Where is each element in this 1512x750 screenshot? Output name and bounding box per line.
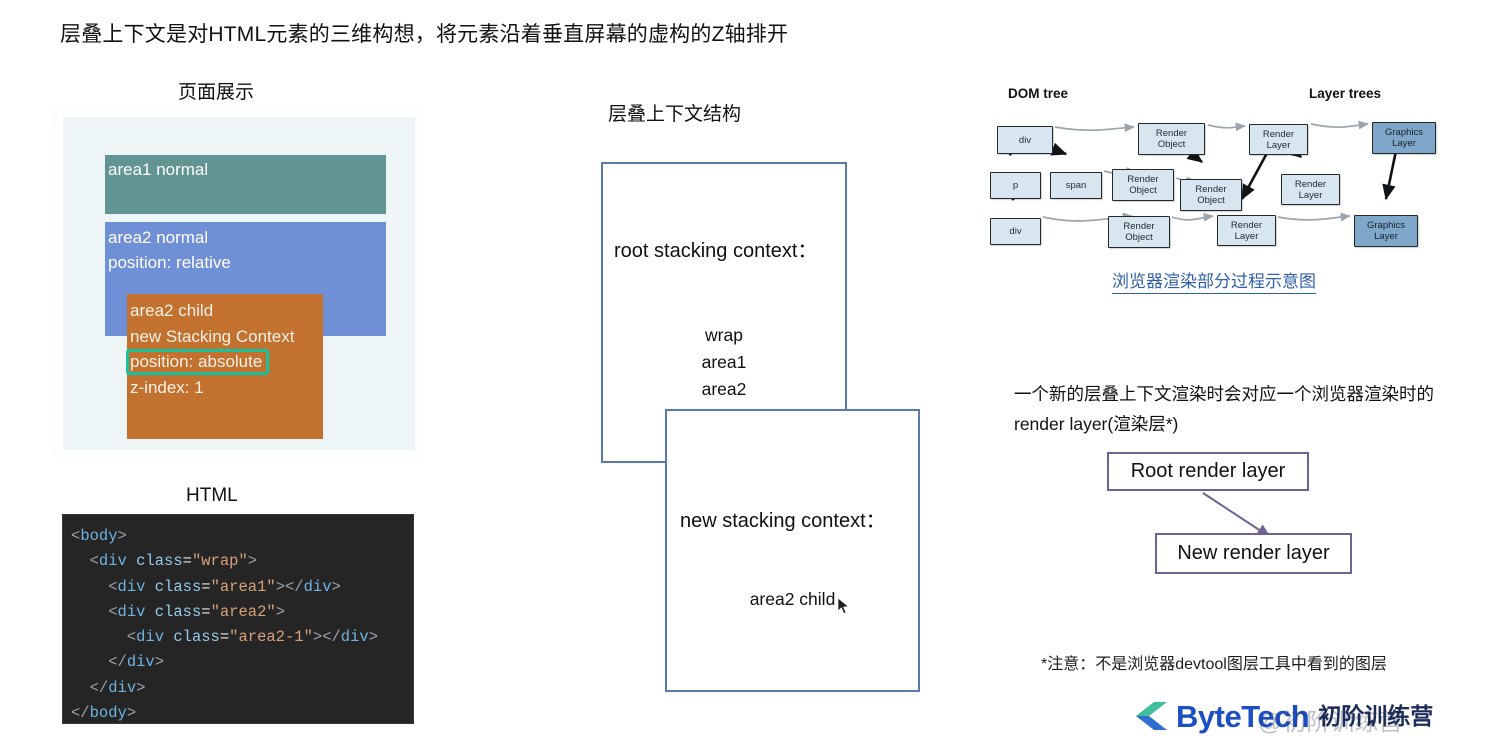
diagram-node-render-object-7: RenderObject bbox=[1108, 216, 1170, 248]
render-process-diagram-link[interactable]: 浏览器渲染部分过程示意图 bbox=[1112, 267, 1316, 294]
diagram-node-graphics-layer-12: GraphicsLayer bbox=[1354, 215, 1418, 247]
diagram-node-label: RenderObject bbox=[1154, 128, 1189, 150]
diagram-node-label: RenderLayer bbox=[1261, 129, 1296, 151]
stacking-structure-caption: 层叠上下文结构 bbox=[608, 99, 741, 126]
page-title: 层叠上下文是对HTML元素的三维构想，将元素沿着垂直屏幕的虚构的Z轴排开 bbox=[60, 18, 788, 48]
diagram-node-render-object-5: RenderObject bbox=[1112, 169, 1174, 201]
diagram-node-label: RenderObject bbox=[1125, 174, 1160, 196]
diagram-node-label: span bbox=[1064, 180, 1089, 191]
new-stacking-context-box: new stacking context： area2 child bbox=[665, 409, 920, 692]
area2-child-line-4: z-index: 1 bbox=[130, 375, 323, 401]
diagram-node-label: RenderLayer bbox=[1293, 179, 1328, 201]
render-layer-paragraph: 一个新的层叠上下文渲染时会对应一个浏览器渲染时的render layer(渲染层… bbox=[1014, 379, 1474, 439]
diagram-node-label: div bbox=[1007, 226, 1023, 237]
diagram-node-label: GraphicsLayer bbox=[1365, 220, 1407, 242]
browser-render-diagram: DOM tree Layer trees divpspandivRende bbox=[990, 86, 1460, 246]
page-demo-caption: 页面展示 bbox=[178, 77, 254, 104]
root-stacking-item-1: wrap bbox=[603, 322, 845, 349]
mouse-cursor-icon bbox=[838, 598, 850, 615]
root-stacking-context-items: wraparea1area2 bbox=[603, 322, 845, 403]
diagram-node-label: p bbox=[1011, 180, 1020, 191]
page-demo-canvas: area1 normal area2 normal position: rela… bbox=[63, 117, 415, 450]
html-code-caption: HTML bbox=[186, 485, 238, 507]
diagram-node-div-3: div bbox=[990, 218, 1041, 245]
area1-line-1: area1 normal bbox=[108, 159, 386, 181]
page-demo-frame: area1 normal area2 normal position: rela… bbox=[56, 110, 422, 457]
diagram-node-label: RenderLayer bbox=[1229, 220, 1264, 242]
diagram-node-span-2: span bbox=[1050, 172, 1102, 199]
bytetech-chevron-icon bbox=[1135, 701, 1169, 731]
code-line-5: <div class="area2-1"></div> bbox=[71, 625, 413, 650]
bytetech-wordmark: ByteTech bbox=[1176, 701, 1309, 732]
html-code-block: <body> <div class="wrap"> <div class="ar… bbox=[62, 514, 414, 724]
area2-child-highlight-row: position: absolute bbox=[130, 349, 323, 375]
diagram-node-label: RenderObject bbox=[1193, 184, 1228, 206]
root-stacking-item-2: area1 bbox=[603, 349, 845, 376]
code-line-3: <div class="area1"></div> bbox=[71, 575, 413, 600]
code-line-7: </div> bbox=[71, 676, 413, 701]
diagram-node-render-object-4: RenderObject bbox=[1138, 123, 1205, 155]
code-line-4: <div class="area2"> bbox=[71, 600, 413, 625]
new-render-layer-box: New render layer bbox=[1155, 533, 1352, 574]
demo-block-area2-child: area2 child new Stacking Context positio… bbox=[127, 294, 323, 439]
area2-line-1: area2 normal bbox=[108, 226, 386, 251]
diagram-node-p-1: p bbox=[990, 172, 1041, 199]
area2-child-line-1: area2 child bbox=[130, 298, 323, 324]
bytetech-logo: ByteTech 初阶训练营 bbox=[1135, 694, 1433, 738]
diagram-node-render-layer-9: RenderLayer bbox=[1281, 174, 1340, 205]
area2-child-line-2: new Stacking Context bbox=[130, 324, 323, 350]
demo-block-area1: area1 normal bbox=[105, 155, 386, 214]
diagram-node-label: RenderObject bbox=[1121, 221, 1156, 243]
code-line-2: <div class="wrap"> bbox=[71, 549, 413, 574]
new-render-layer-label: New render layer bbox=[1177, 542, 1329, 565]
new-stacking-context-item: area2 child bbox=[667, 589, 918, 610]
area2-line-2: position: relative bbox=[108, 251, 386, 276]
diagram-node-render-layer-8: RenderLayer bbox=[1249, 124, 1308, 155]
position-absolute-highlight: position: absolute bbox=[126, 349, 269, 375]
diagram-node-render-object-6: RenderObject bbox=[1180, 179, 1242, 211]
diagram-node-div-0: div bbox=[997, 126, 1053, 154]
new-stacking-context-title: new stacking context： bbox=[680, 504, 886, 533]
root-render-layer-box: Root render layer bbox=[1107, 452, 1309, 491]
bytetech-subbrand: 初阶训练营 bbox=[1318, 705, 1433, 728]
code-line-6: </div> bbox=[71, 650, 413, 675]
devtool-footnote: *注意：不是浏览器devtool图层工具中看到的图层 bbox=[1041, 650, 1387, 674]
diagram-node-label: GraphicsLayer bbox=[1383, 127, 1425, 149]
root-render-layer-label: Root render layer bbox=[1131, 460, 1286, 483]
code-line-1: <body> bbox=[71, 524, 413, 549]
diagram-node-graphics-layer-11: GraphicsLayer bbox=[1372, 122, 1436, 154]
root-stacking-item-3: area2 bbox=[603, 376, 845, 403]
diagram-node-render-layer-10: RenderLayer bbox=[1217, 215, 1276, 246]
code-line-8: </body> bbox=[71, 701, 413, 724]
root-stacking-context-title: root stacking context： bbox=[614, 234, 817, 263]
diagram-node-label: div bbox=[1017, 135, 1033, 146]
